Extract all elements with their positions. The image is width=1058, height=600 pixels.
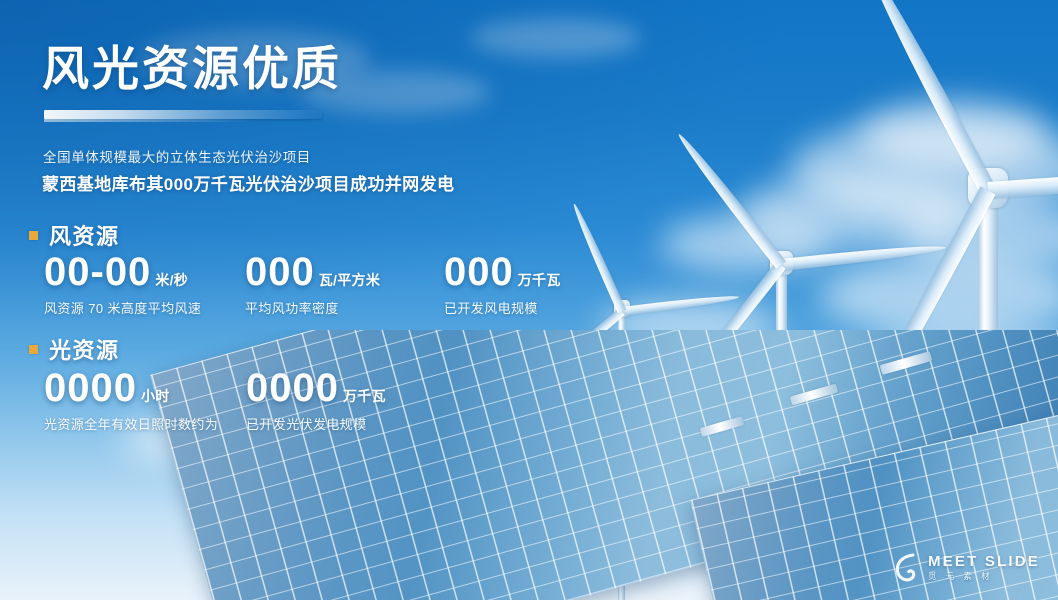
turbine-blade <box>674 130 786 268</box>
stat-value: 0000 <box>246 368 339 408</box>
logo-text-block: MEET SLIDE 觅 元 素 材 <box>928 554 1040 581</box>
stat-caption: 已开发风电规模 <box>444 298 561 317</box>
square-bullet-icon <box>29 345 38 354</box>
logo-tagline: 觅 元 素 材 <box>928 572 1040 581</box>
stat-unit: 万千瓦 <box>343 386 386 406</box>
title-underline <box>44 110 322 119</box>
subtitle-primary: 蒙西基地库布其000万千瓦光伏治沙项目成功并网发电 <box>42 170 454 195</box>
stat-caption: 光资源全年有效日照时数约为 <box>44 414 218 433</box>
stat-value: 00-00 <box>44 252 151 292</box>
stat-value-row: 0000 小时 <box>44 368 218 408</box>
stat-unit: 瓦/平方米 <box>319 270 380 290</box>
swoosh-circle-icon <box>894 552 921 582</box>
stat-value-row: 000 瓦/平方米 <box>245 252 380 292</box>
stat-value-row: 000 万千瓦 <box>444 252 561 292</box>
stat-caption: 平均风功率密度 <box>245 298 380 317</box>
stat-caption: 已开发光伏发电规模 <box>246 414 386 433</box>
stat-value: 000 <box>444 252 514 292</box>
section-header-wind: 风资源 <box>29 219 120 251</box>
content-column: 风光资源优质 全国单体规模最大的立体生态光伏治沙项目 蒙西基地库布其000万千瓦… <box>0 0 640 600</box>
slide-canvas: 风光资源优质 全国单体规模最大的立体生态光伏治沙项目 蒙西基地库布其000万千瓦… <box>0 0 1058 600</box>
section-label-wind: 风资源 <box>49 219 120 251</box>
subtitle-secondary: 全国单体规模最大的立体生态光伏治沙项目 <box>43 146 311 166</box>
section-header-solar: 光资源 <box>29 333 120 365</box>
stat-item: 000 瓦/平方米 平均风功率密度 <box>245 252 380 317</box>
stat-caption: 风资源 70 米高度平均风速 <box>44 298 201 317</box>
stat-value-row: 00-00 米/秒 <box>44 252 201 292</box>
stat-value-row: 0000 万千瓦 <box>246 368 386 408</box>
square-bullet-icon <box>29 231 38 240</box>
stat-unit: 万千瓦 <box>518 270 561 290</box>
turbine-blade <box>863 0 995 194</box>
stat-value: 0000 <box>44 368 137 408</box>
stat-item: 00-00 米/秒 风资源 70 米高度平均风速 <box>44 252 201 317</box>
page-title: 风光资源优质 <box>42 42 342 96</box>
stat-item: 000 万千瓦 已开发风电规模 <box>444 252 561 317</box>
section-label-solar: 光资源 <box>49 333 120 365</box>
stat-unit: 米/秒 <box>155 270 188 290</box>
logo-name: MEET SLIDE <box>928 554 1040 569</box>
stat-unit: 小时 <box>141 386 170 406</box>
brand-logo: MEET SLIDE 觅 元 素 材 <box>894 552 1040 582</box>
stat-value: 000 <box>245 252 315 292</box>
stat-item: 0000 万千瓦 已开发光伏发电规模 <box>246 368 386 433</box>
stat-item: 0000 小时 光资源全年有效日照时数约为 <box>44 368 218 433</box>
